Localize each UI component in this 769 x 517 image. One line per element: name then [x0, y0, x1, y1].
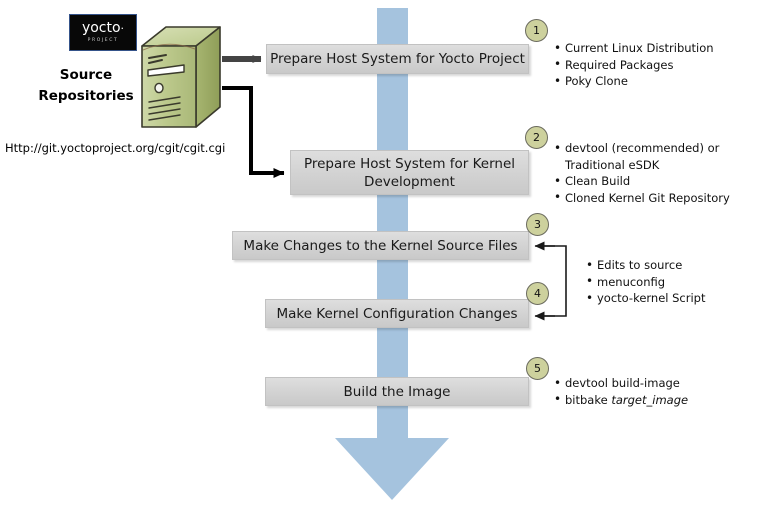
step-number-badge-2: 2 [525, 126, 548, 149]
list-item: yocto-kernel Script [585, 290, 706, 307]
list-item: bitbake target_image [553, 392, 688, 409]
logo-dot-mark: · [121, 22, 125, 35]
step-number-badge-1: 1 [525, 19, 548, 42]
server-tower-icon [138, 24, 224, 134]
list-item: menuconfig [585, 274, 706, 291]
bullet-list-steps-3-4: Edits to source menuconfig yocto-kernel … [585, 257, 706, 307]
source-repositories-label: Source Repositories [24, 65, 148, 107]
list-item: devtool build-image [553, 375, 688, 392]
list-item: devtool (recommended) or [553, 140, 730, 157]
list-item: Cloned Kernel Git Repository [553, 190, 730, 207]
step-number-badge-3-label: 3 [534, 218, 541, 231]
bullet-list-step5: devtool build-image bitbake target_image [553, 375, 688, 408]
step-number-badge-3: 3 [526, 213, 549, 236]
step-number-badge-1-label: 1 [533, 24, 540, 37]
logo-subtitle: PROJECT [88, 37, 119, 44]
list-item: Current Linux Distribution [553, 40, 714, 57]
process-box-step2-label: Prepare Host System for Kernel Developme… [304, 155, 515, 191]
yocto-project-logo: yocto· PROJECT [69, 14, 137, 51]
list-item: Poky Clone [553, 73, 714, 90]
step-number-badge-5: 5 [526, 357, 549, 380]
process-box-step2-line1: Prepare Host System for Kernel [304, 156, 515, 172]
process-box-step3-label: Make Changes to the Kernel Source Files [243, 237, 517, 255]
connector-bracket-steps-3-4 [538, 246, 566, 316]
step-number-badge-4: 4 [526, 282, 549, 305]
source-repositories-label-line1: Source [24, 65, 148, 86]
process-box-step4-label: Make Kernel Configuration Changes [276, 305, 517, 323]
process-box-step4[interactable]: Make Kernel Configuration Changes [265, 299, 529, 328]
source-repositories-url: Http://git.yoctoproject.org/cgit/cgit.cg… [5, 141, 225, 155]
step-number-badge-2-label: 2 [533, 131, 540, 144]
list-item: Edits to source [585, 257, 706, 274]
source-repositories-label-line2: Repositories [24, 86, 148, 107]
list-item-command: bitbake [565, 393, 611, 407]
flow-arrow-head-icon [335, 438, 449, 500]
bullet-list-step1: Current Linux Distribution Required Pack… [553, 40, 714, 90]
connector-server-to-step2 [222, 88, 284, 173]
process-box-step5[interactable]: Build the Image [265, 377, 529, 406]
process-box-step1-label: Prepare Host System for Yocto Project [270, 50, 525, 68]
list-item-continuation: Traditional eSDK [553, 157, 730, 174]
bullet-list-step2: devtool (recommended) or Traditional eSD… [553, 140, 730, 206]
process-box-step3[interactable]: Make Changes to the Kernel Source Files [232, 231, 529, 260]
list-item-argument: target_image [611, 393, 688, 407]
logo-wordmark: yocto [82, 20, 121, 36]
list-item: Clean Build [553, 173, 730, 190]
kernel-development-flow-diagram: yocto· PROJECT Source Repositories Http:… [0, 0, 769, 517]
list-item: Required Packages [553, 57, 714, 74]
process-box-step2[interactable]: Prepare Host System for Kernel Developme… [290, 150, 529, 195]
process-box-step2-line2: Development [364, 174, 455, 190]
process-box-step5-label: Build the Image [344, 383, 451, 401]
step-number-badge-4-label: 4 [534, 287, 541, 300]
step-number-badge-5-label: 5 [534, 362, 541, 375]
process-box-step1[interactable]: Prepare Host System for Yocto Project [266, 44, 529, 74]
